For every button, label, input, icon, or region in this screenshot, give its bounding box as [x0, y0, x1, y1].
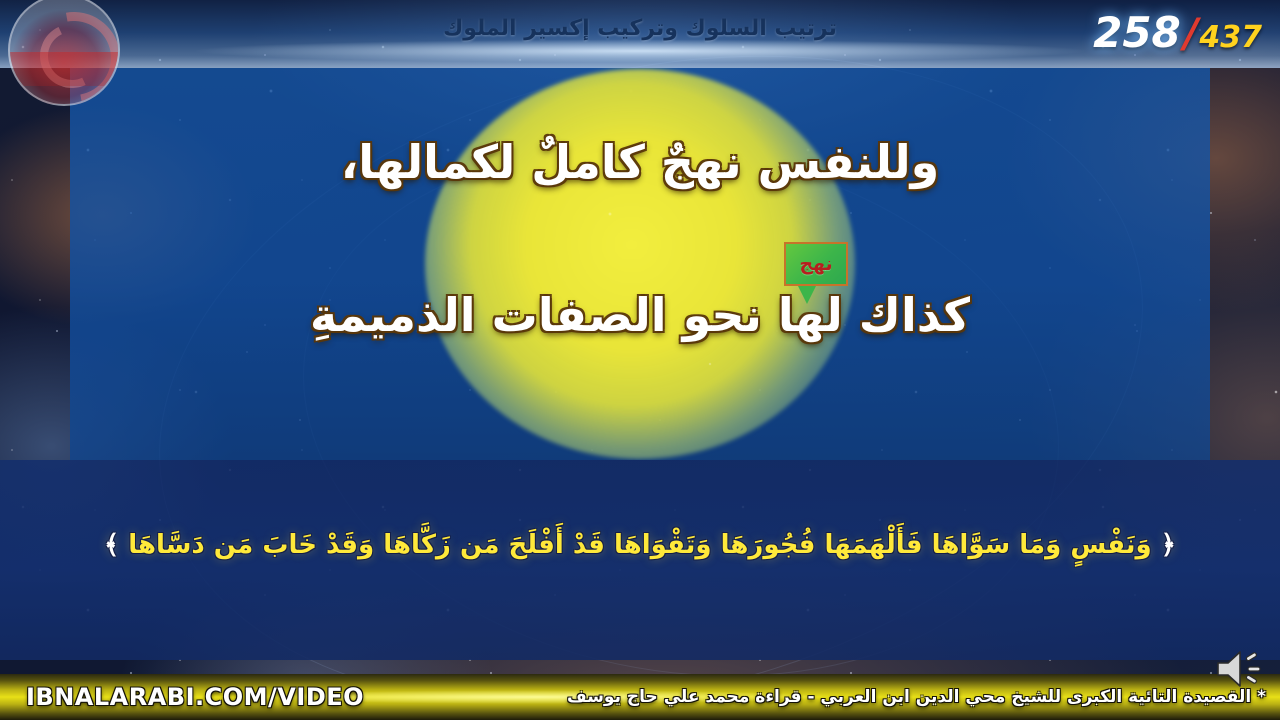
- quran-zone: [0, 460, 1280, 660]
- quran-verse: ﴿ وَنَفْسٍ وَمَا سَوَّاهَا فَأَلْهَمَهَا…: [0, 530, 1280, 560]
- ibn-arabi-logo-icon[interactable]: [8, 0, 120, 106]
- poem-line-1: وللنفس نهجٌ كاملٌ لكمالها،: [0, 135, 1280, 189]
- verse-panel: [70, 68, 1210, 460]
- website-url[interactable]: IBNALARABI.COM/VIDEO: [26, 683, 364, 711]
- counter-total: 437: [1199, 23, 1262, 53]
- credit-line: * القصيدة التائية الكبرى للشيخ محي الدين…: [567, 687, 1266, 707]
- poem-line-2: كذاك لها نحو الصفات الذميمةِ: [0, 288, 1280, 342]
- ornament-open-icon: ﴿: [1161, 530, 1176, 560]
- ornament-close-icon: ﴾: [104, 530, 119, 560]
- volume-on-icon[interactable]: [1212, 646, 1268, 692]
- page-title: ترتيب السلوك وتركيب إكسير الملوك: [0, 16, 1280, 41]
- footer-bar: IBNALARABI.COM/VIDEO * القصيدة التائية ا…: [0, 674, 1280, 720]
- header-glow: [0, 38, 1280, 64]
- verse-counter: 258 / 437: [1093, 12, 1262, 54]
- counter-separator: /: [1184, 14, 1199, 54]
- word-annotation-label: نهج: [799, 253, 832, 275]
- logo-band: [10, 52, 118, 86]
- counter-current: 258: [1093, 12, 1181, 54]
- badge-pointer-icon: [798, 286, 816, 304]
- word-annotation-badge[interactable]: نهج: [784, 242, 848, 286]
- video-frame: وللنفس نهجٌ كاملٌ لكمالها، كذاك لها نحو …: [0, 0, 1280, 720]
- quran-verse-text: وَنَفْسٍ وَمَا سَوَّاهَا فَأَلْهَمَهَا ف…: [128, 530, 1151, 560]
